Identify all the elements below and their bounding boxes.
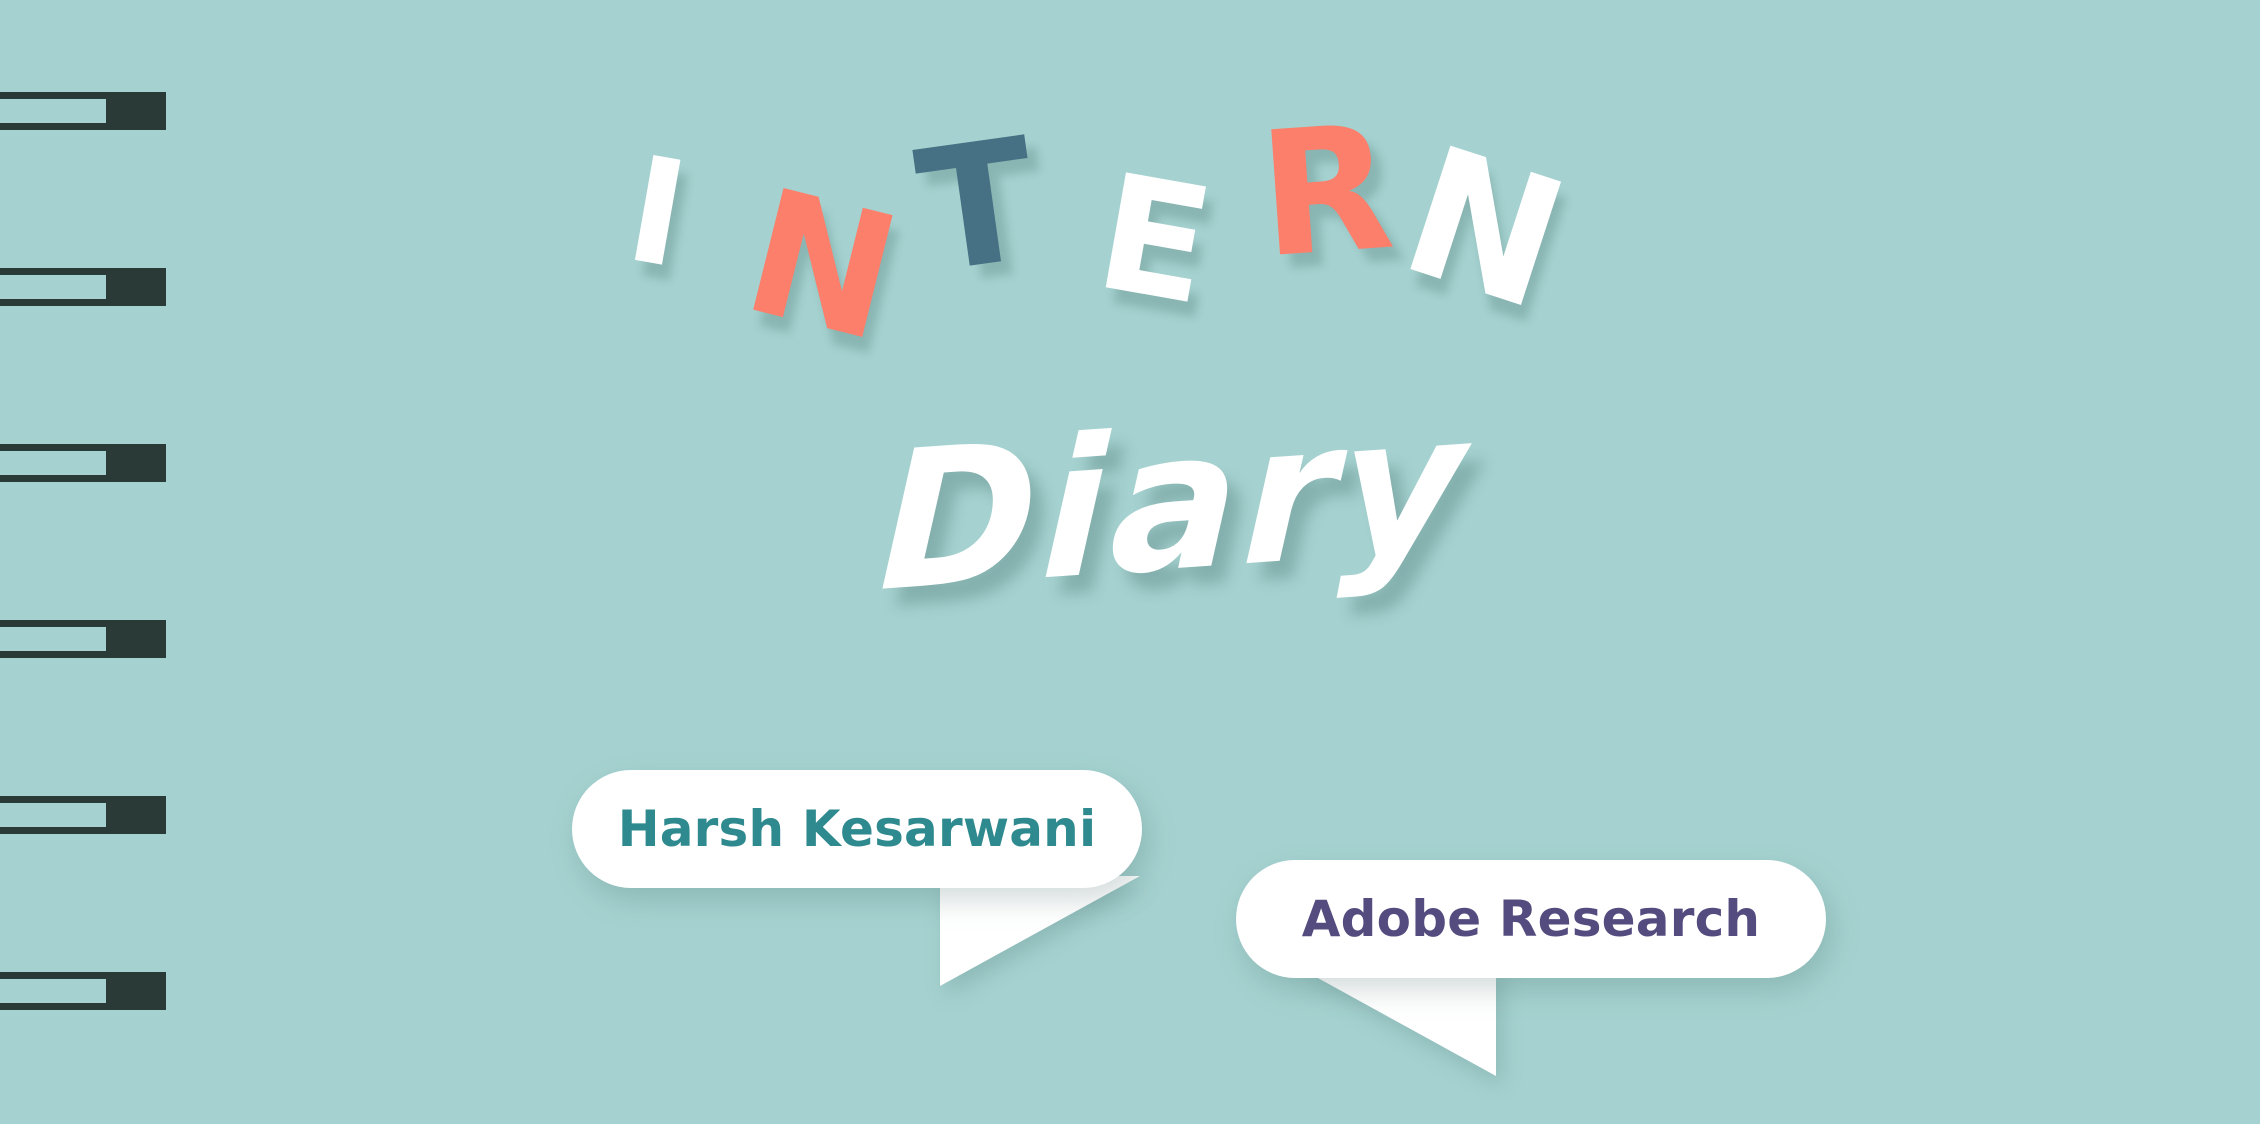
binding-ring-slot <box>0 275 106 299</box>
page-subtitle: Diary <box>877 387 1471 619</box>
speech-bubble-org[interactable]: Adobe Research <box>1236 860 1826 978</box>
speech-bubble-org-label: Adobe Research <box>1302 890 1760 948</box>
binding-ring-slot <box>0 627 106 651</box>
title-letter-3: T <box>909 115 1046 297</box>
binding-ring <box>0 268 166 306</box>
notebook-spiral-binding <box>0 0 180 1124</box>
binding-ring <box>0 796 166 834</box>
title-letter-5: R <box>1254 102 1398 283</box>
binding-ring <box>0 620 166 658</box>
speech-bubble-name[interactable]: Harsh Kesarwani <box>572 770 1142 888</box>
speech-bubble-name-label: Harsh Kesarwani <box>618 800 1097 858</box>
speech-bubble-tail-name <box>940 876 1140 986</box>
binding-ring <box>0 92 166 130</box>
binding-ring-slot <box>0 803 106 827</box>
slide-canvas: I N T E R N Diary Harsh Kesarwani Adobe … <box>0 0 2260 1124</box>
binding-ring <box>0 972 166 1010</box>
title-letter-6: N <box>1386 121 1583 336</box>
title-letter-4: E <box>1087 152 1222 329</box>
binding-ring <box>0 444 166 482</box>
title-letter-2: N <box>731 165 912 367</box>
speech-bubble-tail-org <box>1296 966 1496 1076</box>
binding-ring-slot <box>0 979 106 1003</box>
title-letter-1: I <box>618 136 697 289</box>
binding-ring-slot <box>0 99 106 123</box>
binding-ring-slot <box>0 451 106 475</box>
